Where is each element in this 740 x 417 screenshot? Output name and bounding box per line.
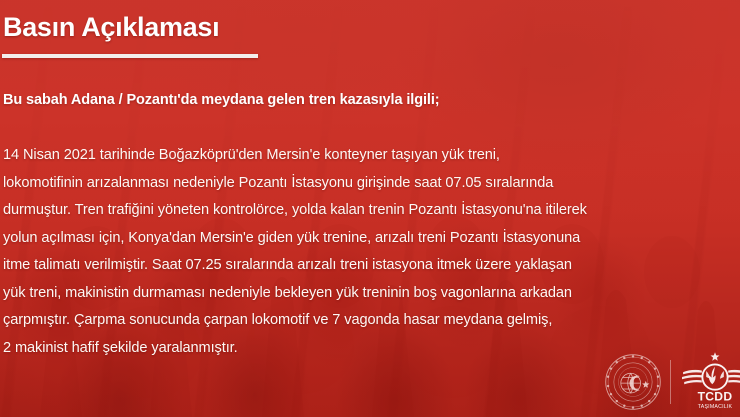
content-layer: Basın Açıklaması Bu sabah Adana / Pozant… (0, 0, 740, 417)
footer-logos: TCDD TAŞIMACILIK (604, 349, 740, 415)
tcdd-subtitle: TAŞIMACILIK (698, 404, 733, 410)
tcdd-logo-icon: TCDD TAŞIMACILIK (682, 352, 740, 412)
body-line: yük treni, makinistin durmaması nedeniyl… (3, 280, 739, 308)
logo-divider (670, 360, 671, 404)
body-line: lokomotifinin arızalanması nedeniyle Poz… (3, 170, 739, 198)
body-text: 14 Nisan 2021 tarihinde Boğazköprü'den M… (3, 142, 739, 362)
body-line: 14 Nisan 2021 tarihinde Boğazköprü'den M… (3, 142, 739, 170)
ministry-seal-icon (604, 353, 662, 411)
body-line: çarpmıştır. Çarpma sonucunda çarpan loko… (3, 307, 739, 335)
body-line: itme talimatı verilmiştir. Saat 07.25 sı… (3, 252, 739, 280)
body-line: yolun açılması için, Konya'dan Mersin'e … (3, 225, 739, 253)
subtitle-text: Bu sabah Adana / Pozantı'da meydana gele… (3, 92, 439, 108)
body-line: durmuştur. Tren trafiğini yöneten kontro… (3, 197, 739, 225)
page-title: Basın Açıklaması (3, 12, 219, 42)
title-underline (2, 54, 258, 58)
press-release-card: Basın Açıklaması Bu sabah Adana / Pozant… (0, 0, 740, 417)
tcdd-wordmark: TCDD (698, 390, 733, 404)
